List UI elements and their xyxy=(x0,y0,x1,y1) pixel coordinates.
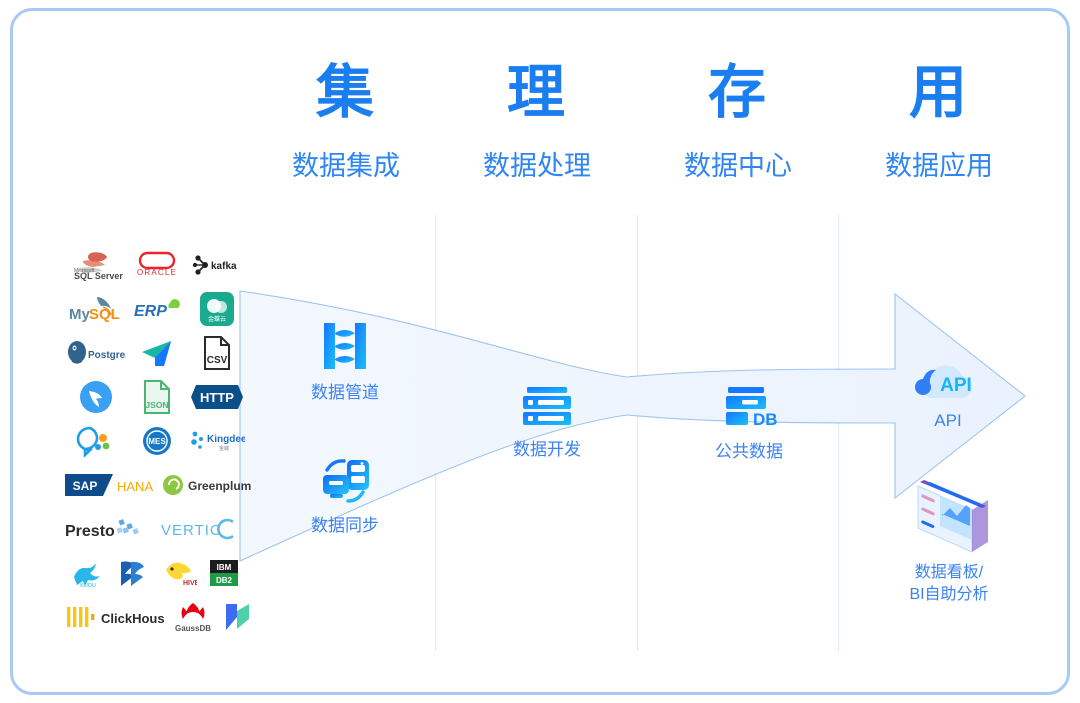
logo-baidu xyxy=(111,553,157,593)
logo-row: KUDU HIVE IBM xyxy=(65,551,247,595)
logo-apache-kudu: KUDU xyxy=(65,553,111,593)
svg-text:金蝶云: 金蝶云 xyxy=(208,315,226,323)
header-big-3: 存 xyxy=(638,63,838,124)
stage-data-sync[interactable]: 数据同步 xyxy=(285,454,405,538)
header-big-2: 理 xyxy=(437,63,637,124)
header-sub-3: 数据中心 xyxy=(638,144,838,183)
stage-api[interactable]: API API xyxy=(893,356,1003,433)
header-column-1: 集 数据集成 xyxy=(246,63,446,183)
stage-label-data-pipeline: 数据管道 xyxy=(285,382,405,405)
column-divider-2 xyxy=(637,215,638,651)
svg-text:SAP: SAP xyxy=(73,479,98,493)
svg-text:KUDU: KUDU xyxy=(80,583,96,589)
logo-sap-hana: SAP HANA xyxy=(65,465,161,505)
header-column-3: 存 数据中心 xyxy=(638,63,838,183)
logo-postgresql: PostgreSQL xyxy=(65,333,127,373)
sync-icon xyxy=(317,454,373,506)
database-icon: DB xyxy=(720,386,778,432)
stage-label-data-sync: 数据同步 xyxy=(285,515,405,538)
stage-label-data-development: 数据开发 xyxy=(487,439,607,462)
logo-mysql: My SQL xyxy=(65,289,127,329)
svg-text:MES: MES xyxy=(148,437,166,446)
header-sub-4: 数据应用 xyxy=(839,144,1039,183)
svg-text:Presto: Presto xyxy=(65,523,115,540)
logo-kingdee: Kingdee 金蝶 xyxy=(187,421,247,461)
logo-row: JSON HTTP xyxy=(65,375,247,419)
logo-vertica: VERTIC xyxy=(161,509,253,549)
logo-gaussdb: GaussDB xyxy=(165,597,221,637)
stage-label-api: API xyxy=(893,410,1003,433)
svg-text:JSON: JSON xyxy=(145,400,168,410)
logo-erp: ERP xyxy=(127,289,187,329)
svg-text:Greenplum: Greenplum xyxy=(188,479,251,493)
svg-text:IBM: IBM xyxy=(217,563,232,572)
header-column-2: 理 数据处理 xyxy=(437,63,637,183)
logo-csv: CSV xyxy=(187,333,247,373)
svg-text:GaussDB: GaussDB xyxy=(175,624,211,633)
header-big-4: 用 xyxy=(839,63,1039,124)
logo-greenplum: Greenplum xyxy=(161,465,257,505)
stage-dashboard-bi[interactable]: 数据看板/ BI自助分析 xyxy=(885,466,1013,605)
svg-text:Kingdee: Kingdee xyxy=(207,434,245,445)
header-big-1: 集 xyxy=(246,63,446,124)
api-icon-text: API xyxy=(940,375,972,396)
dashboard-bi-icon xyxy=(902,466,996,558)
logo-row: PostgreSQL CSV xyxy=(65,331,247,375)
logo-mes: MES xyxy=(127,421,187,461)
cloud-api-icon: API xyxy=(906,356,990,404)
svg-text:ORACLE: ORACLE xyxy=(137,268,177,277)
svg-text:HTTP: HTTP xyxy=(200,390,234,405)
stage-label-dashboard-line1: 数据看板/ xyxy=(885,562,1013,584)
header-column-4: 用 数据应用 xyxy=(839,63,1039,183)
stage-data-development[interactable]: 数据开发 xyxy=(487,386,607,462)
svg-text:ERP: ERP xyxy=(134,303,167,320)
logo-telegram xyxy=(127,333,187,373)
logo-oracle: ORACLE xyxy=(127,245,187,285)
data-source-logo-grid: Microsoft SQL Server ORACLE xyxy=(65,243,247,615)
stage-headers: 集 数据集成 理 数据处理 存 数据中心 用 数据应用 xyxy=(13,11,1067,221)
logo-chat xyxy=(65,421,127,461)
stage-data-pipeline[interactable]: 数据管道 xyxy=(285,319,405,405)
logo-kingdee-cloud: 金蝶云 xyxy=(187,289,247,329)
svg-text:PostgreSQL: PostgreSQL xyxy=(88,350,126,361)
logo-json: JSON xyxy=(127,377,187,417)
svg-text:DB2: DB2 xyxy=(216,576,233,585)
pipeline-icon xyxy=(318,319,372,373)
svg-text:kafka: kafka xyxy=(211,261,237,272)
stage-public-data[interactable]: DB 公共数据 xyxy=(689,386,809,464)
svg-text:My: My xyxy=(69,306,90,323)
logo-doris xyxy=(221,597,255,637)
logo-http: HTTP xyxy=(187,377,247,417)
header-sub-1: 数据集成 xyxy=(246,144,446,183)
logo-row: ClickHouse GaussDB xyxy=(65,595,247,639)
column-divider-1 xyxy=(435,215,436,651)
svg-text:VERTIC: VERTIC xyxy=(161,522,222,539)
logo-row: My SQL ERP 金蝶云 xyxy=(65,287,247,331)
logo-row: Microsoft SQL Server ORACLE xyxy=(65,243,247,287)
server-stack-icon xyxy=(519,386,575,430)
stage-label-dashboard-line2: BI自助分析 xyxy=(885,584,1013,606)
logo-kafka: kafka xyxy=(187,245,247,285)
logo-row: SAP HANA Greenplum xyxy=(65,463,247,507)
logo-presto: Presto xyxy=(65,509,161,549)
svg-text:SQL: SQL xyxy=(89,306,120,323)
logo-ibm-db2: IBM DB2 xyxy=(202,553,248,593)
svg-text:DB: DB xyxy=(753,410,778,429)
logo-row: Presto VERTIC xyxy=(65,507,247,551)
logo-dingtalk xyxy=(65,377,127,417)
logo-hive: HIVE xyxy=(156,553,202,593)
logo-row: MES Kingdee 金蝶 xyxy=(65,419,247,463)
svg-text:HANA: HANA xyxy=(117,479,153,494)
svg-text:HIVE: HIVE xyxy=(183,580,197,587)
header-sub-2: 数据处理 xyxy=(437,144,637,183)
column-divider-3 xyxy=(838,215,839,651)
svg-text:金蝶: 金蝶 xyxy=(219,445,229,452)
logo-sql-server: Microsoft SQL Server xyxy=(65,245,127,285)
svg-text:ClickHouse: ClickHouse xyxy=(101,611,165,626)
logo-clickhouse: ClickHouse xyxy=(65,597,165,637)
diagram-frame: 集 数据集成 理 数据处理 存 数据中心 用 数据应用 xyxy=(10,8,1070,695)
stage-label-public-data: 公共数据 xyxy=(689,441,809,464)
svg-text:CSV: CSV xyxy=(207,355,228,366)
svg-text:SQL Server: SQL Server xyxy=(74,271,123,281)
